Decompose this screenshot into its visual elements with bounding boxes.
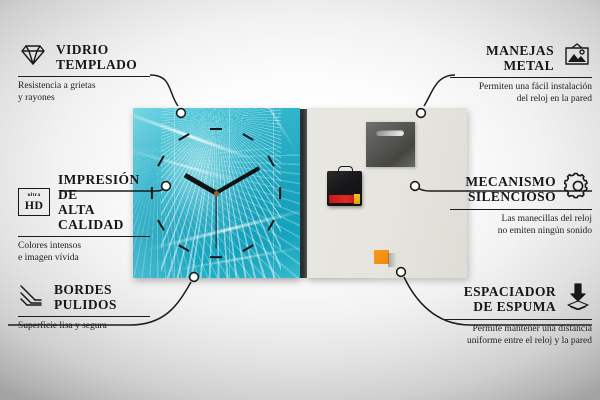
- clock-minute-hand: [215, 166, 260, 195]
- product-infographic: VIDRIO TEMPLADO Resistencia a grietas y …: [0, 0, 600, 400]
- feather-print-fan-1: [161, 108, 281, 278]
- feature-divider: [444, 319, 592, 320]
- clock-hour-marker: [242, 244, 253, 252]
- clock-hour-marker: [279, 187, 281, 199]
- feature-polished-edges: BORDES PULIDOS Superficie lisa y segura: [18, 282, 150, 333]
- clock-hour-marker: [242, 134, 253, 142]
- connector-path-tempered-glass: [150, 75, 178, 106]
- clock-mechanism: [327, 171, 362, 206]
- glass-pane-split: [273, 108, 274, 278]
- clock-hour-marker: [157, 155, 165, 166]
- feature-metal-handles: MANEJAS METAL Permiten una fácil instala…: [450, 42, 592, 105]
- feature-title: IMPRESIÓN DE ALTA CALIDAD: [58, 172, 150, 232]
- feature-title: ESPACIADOR DE ESPUMA: [464, 284, 556, 314]
- glass-pane-split: [229, 108, 230, 278]
- foam-spacer-shadow: [388, 253, 397, 267]
- back-panel: [306, 108, 467, 278]
- clock-second-hand: [215, 193, 216, 249]
- print-streak: [145, 207, 300, 251]
- feature-description: Permite mantener una distancia uniforme …: [444, 324, 592, 347]
- ultra-hd-icon-main-label: HD: [25, 199, 44, 211]
- clock-hour-marker: [178, 244, 189, 252]
- clock-hour-marker: [151, 187, 153, 199]
- feature-description: Superficie lisa y segura: [18, 321, 150, 333]
- feature-divider: [18, 316, 150, 317]
- feature-description: Resistencia a grietas y rayones: [18, 81, 150, 104]
- feature-silent-mechanism: MECANISMO SILENCIOSO Las manecillas del …: [450, 172, 592, 237]
- clock-hour-marker: [267, 155, 275, 166]
- feature-divider: [18, 76, 150, 77]
- picture-frame-hanger-icon: [562, 42, 592, 73]
- feature-foam-spacer: ESPACIADOR DE ESPUMA Permite mantener un…: [444, 282, 592, 347]
- feature-tempered-glass: VIDRIO TEMPLADO Resistencia a grietas y …: [18, 42, 150, 104]
- clock-hour-hand: [184, 173, 217, 195]
- metal-hanger-plate: [366, 122, 415, 167]
- mechanism-battery-chip: [354, 194, 360, 204]
- feature-divider: [450, 77, 592, 78]
- glass-edge: [299, 109, 307, 278]
- clock-hour-marker: [210, 256, 222, 258]
- clock-hour-marker: [267, 219, 275, 230]
- feature-title: BORDES PULIDOS: [54, 282, 117, 312]
- feature-high-quality-print: ultra HD IMPRESIÓN DE ALTA CALIDAD Color…: [18, 172, 150, 264]
- feature-divider: [18, 236, 150, 237]
- clock-hand-cap: [214, 191, 219, 196]
- clock-hour-marker: [210, 128, 222, 130]
- clock-hour-marker: [178, 134, 189, 142]
- feature-description: Colores intensos e imagen vívida: [18, 241, 150, 264]
- polished-edges-icon: [18, 283, 46, 312]
- diamond-icon: [18, 43, 48, 72]
- feature-title: MECANISMO SILENCIOSO: [465, 174, 556, 204]
- feature-title: VIDRIO TEMPLADO: [56, 42, 137, 72]
- product-image: [133, 108, 467, 278]
- gear-icon: [564, 172, 592, 205]
- glass-pane-split: [174, 108, 175, 278]
- clock-face: [133, 108, 300, 278]
- foam-spacer-pad: [374, 250, 389, 264]
- feature-title: MANEJAS METAL: [486, 43, 554, 73]
- feature-divider: [450, 209, 592, 210]
- feature-description: Las manecillas del reloj no emiten ningú…: [450, 214, 592, 237]
- print-streak: [133, 108, 259, 162]
- clock-hour-marker: [157, 219, 165, 230]
- feature-description: Permiten una fácil instalación del reloj…: [450, 82, 592, 105]
- arrow-into-stack-icon: [564, 282, 592, 315]
- hanger-keyhole-slot: [376, 130, 404, 136]
- mechanism-handle: [338, 166, 353, 174]
- ultra-hd-icon: ultra HD: [18, 188, 50, 216]
